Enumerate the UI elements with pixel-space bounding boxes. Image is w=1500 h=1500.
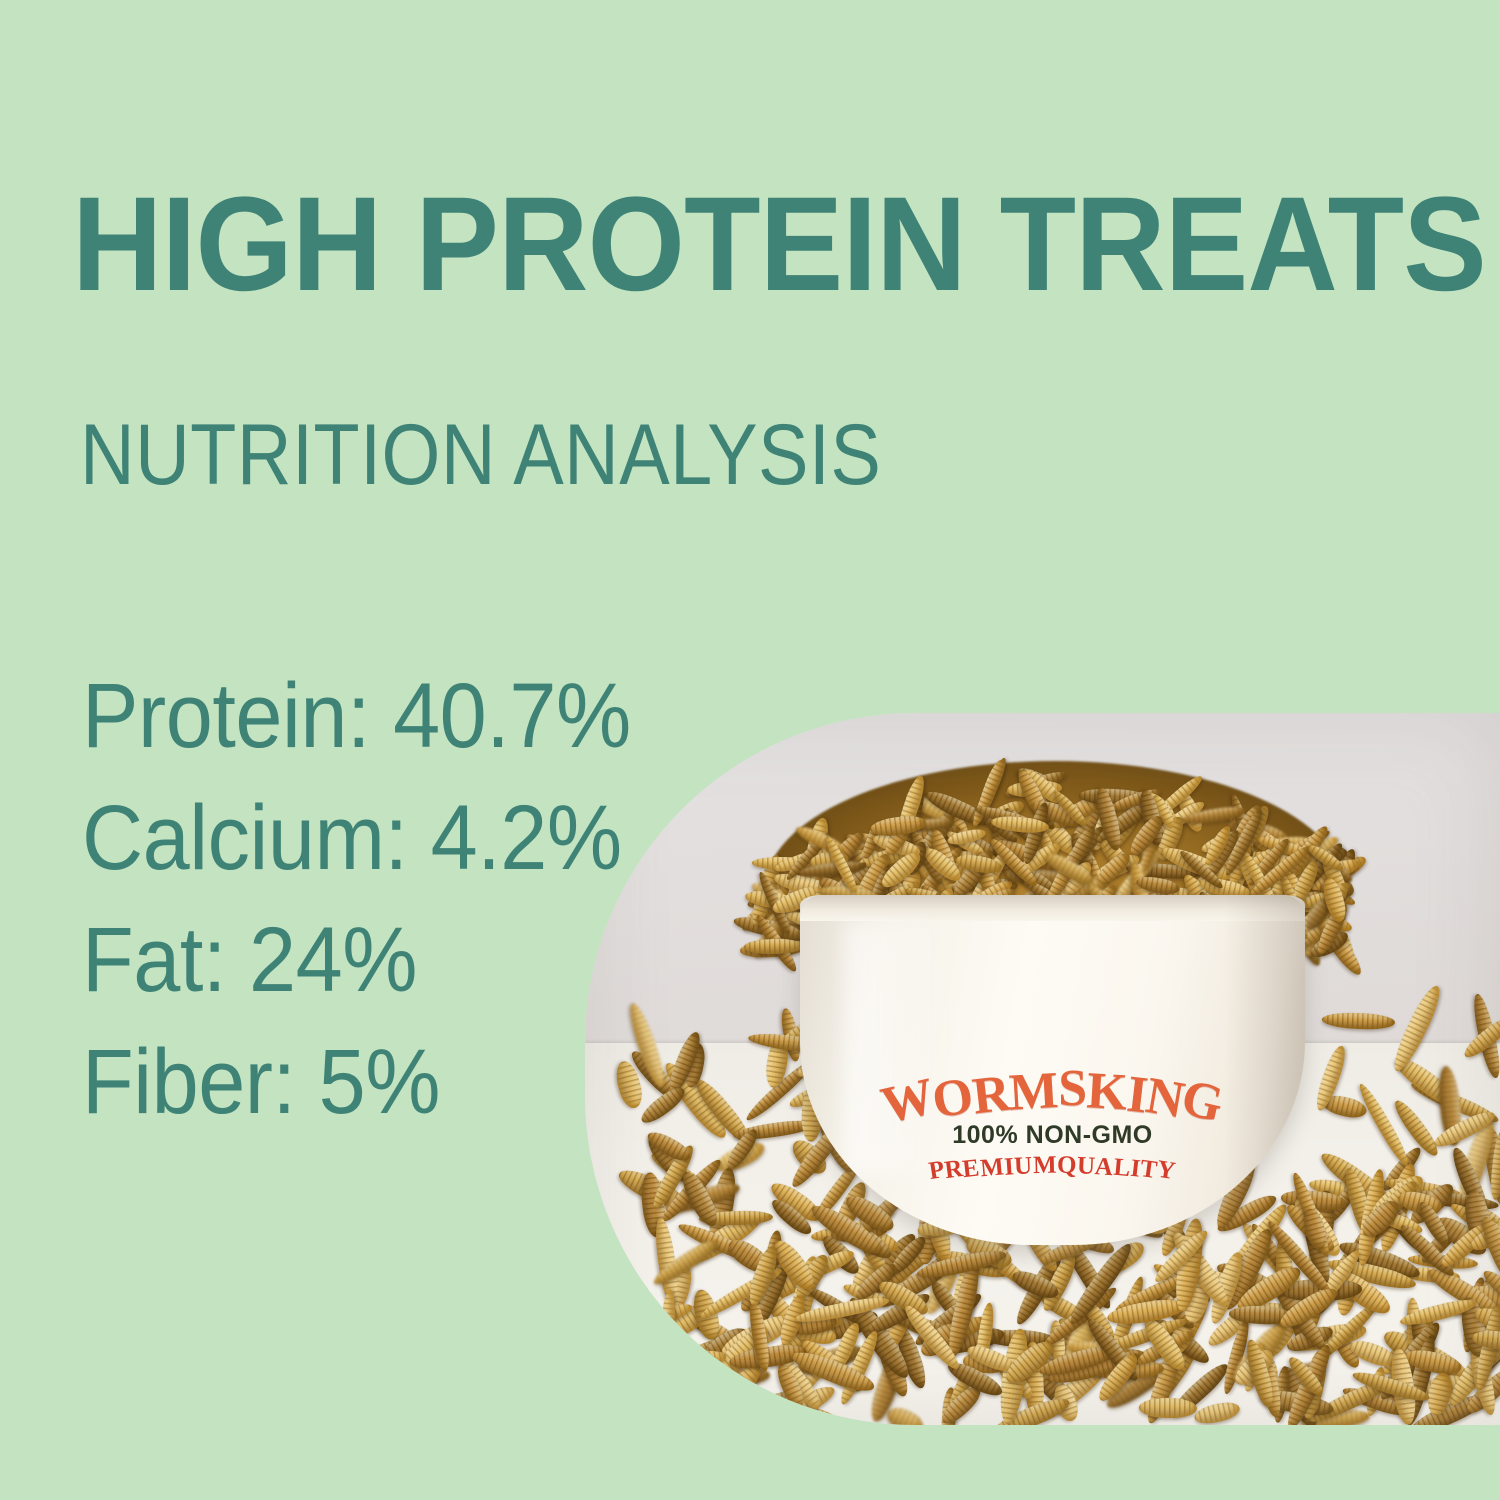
bowl-logo-claim: 100% NON-GMO	[800, 1121, 1305, 1150]
nutrition-row-fat: Fat: 24%	[82, 899, 631, 1021]
poster-canvas: HIGH PROTEIN TREATS NUTRITION ANALYSIS P…	[0, 0, 1500, 1500]
bowl-logo-brand: WORMSKING	[800, 1045, 1305, 1115]
nutrition-row-calcium: Calcium: 4.2%	[82, 777, 631, 899]
photo-scene: WORMSKING 100% NON-GMO PREMIUM QUALITY	[585, 713, 1500, 1425]
nutrition-row-fiber: Fiber: 5%	[82, 1021, 631, 1143]
bowl-logo: WORMSKING 100% NON-GMO PREMIUM QUALITY	[800, 1045, 1305, 1186]
product-bowl: WORMSKING 100% NON-GMO PREMIUM QUALITY	[800, 895, 1305, 1245]
page-title: HIGH PROTEIN TREATS	[72, 178, 1381, 312]
nutrition-row-protein: Protein: 40.7%	[82, 655, 631, 777]
subtitle: NUTRITION ANALYSIS	[80, 412, 881, 498]
larva	[1192, 1399, 1241, 1425]
product-photo: WORMSKING 100% NON-GMO PREMIUM QUALITY	[585, 713, 1500, 1425]
bowl-logo-tagline: PREMIUM QUALITY	[800, 1152, 1305, 1186]
